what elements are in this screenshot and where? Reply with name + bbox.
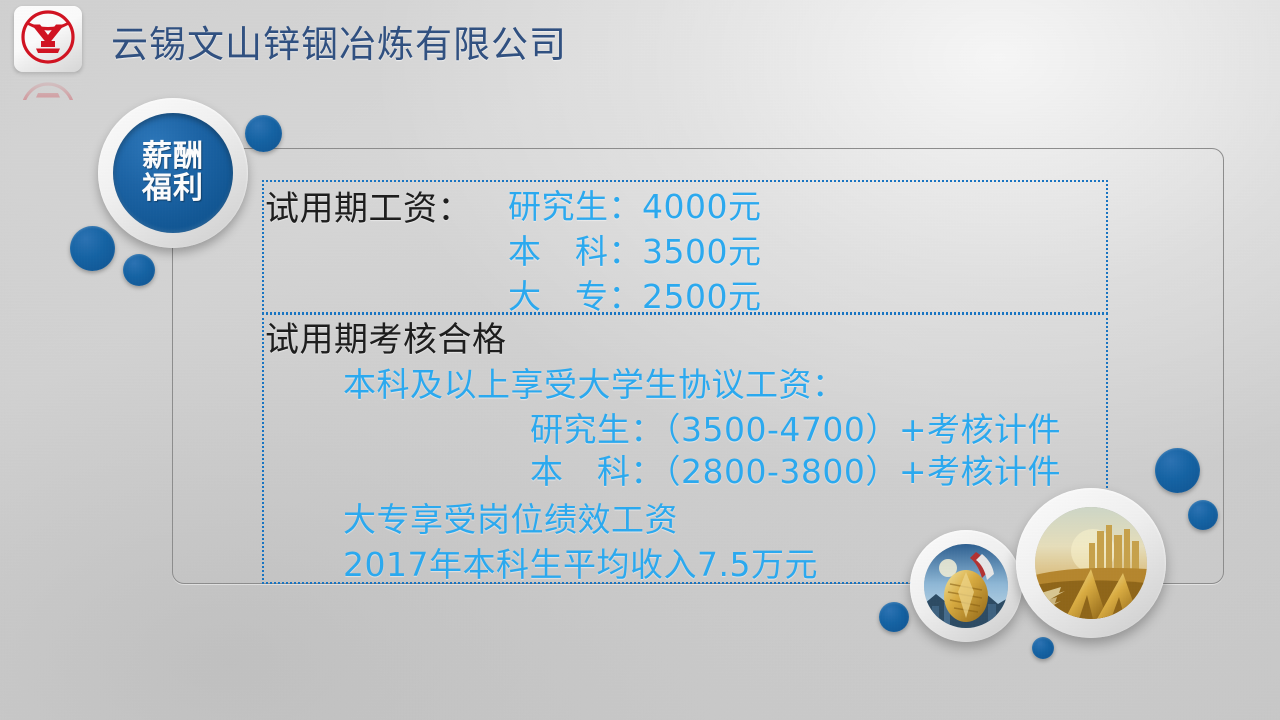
probation-salary-label: 试用期工资：: [265, 192, 472, 226]
photo-bubble-medal: [910, 530, 1022, 642]
probation-salary-row-graduate: 研究生：4000元: [508, 190, 761, 223]
after-probation-heading: 试用期考核合格: [265, 323, 507, 357]
after-probation-line-graduate: 研究生：（3500-4700）+考核计件: [530, 413, 1061, 446]
probation-salary-row-college: 大 专：2500元: [508, 280, 761, 313]
badge-label-line1: 薪酬: [142, 141, 204, 173]
badge-label-line2: 福利: [142, 173, 204, 205]
slide-header: 云锡文山锌铟冶炼有限公司: [0, 0, 1280, 92]
company-title: 云锡文山锌铟冶炼有限公司: [111, 14, 567, 68]
slide-canvas: 云锡文山锌铟冶炼有限公司 薪酬 福利 试用期工资： 研究生：4000元 本 科：…: [0, 0, 1280, 720]
decor-dot-right-small: [1188, 500, 1218, 530]
decor-dot-bottom-left: [879, 602, 909, 632]
badge-core: 薪酬 福利: [113, 113, 233, 233]
decor-dot-bottom-mid: [1032, 637, 1054, 659]
company-logo-reflection-icon: [14, 72, 82, 100]
decor-dot-right-upper: [1155, 448, 1200, 493]
after-probation-line-agreement: 本科及以上享受大学生协议工资：: [343, 368, 846, 401]
photo-bubble-city: [1016, 488, 1166, 638]
after-probation-line-college: 大专享受岗位绩效工资: [343, 503, 678, 536]
city-photo-icon: [1035, 507, 1147, 619]
after-probation-line-average-income: 2017年本科生平均收入7.5万元: [343, 548, 818, 581]
probation-salary-row-bachelor: 本 科：3500元: [508, 235, 761, 268]
decor-dot-top-right: [245, 115, 282, 152]
after-probation-line-bachelor: 本 科：（2800-3800）+考核计件: [530, 455, 1061, 488]
section-badge: 薪酬 福利: [98, 98, 248, 248]
company-logo-icon: [14, 6, 82, 72]
decor-dot-left-small: [123, 254, 155, 286]
medal-photo-icon: [924, 544, 1008, 628]
